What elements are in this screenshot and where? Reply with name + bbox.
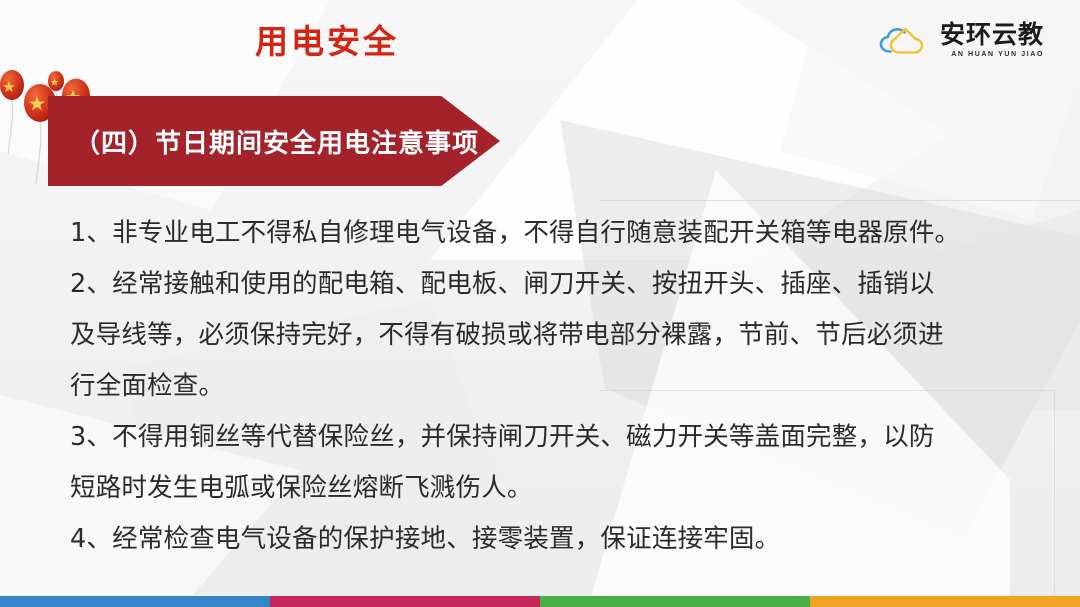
- brand-logo-text: 安环云教 AN HUAN YUN JIAO: [940, 22, 1044, 58]
- content-line: 1、非专业电工不得私自修理电气设备，不得自行随意装配开关箱等电器原件。: [70, 208, 1030, 259]
- content-line: 行全面检查。: [70, 361, 1030, 412]
- bar-segment-green: [540, 596, 810, 607]
- brand-logo: 安环云教 AN HUAN YUN JIAO: [878, 22, 1044, 58]
- slide-root: 用电安全 安环云教 AN HUAN YUN JIAO: [0, 0, 1080, 607]
- background-hairline: [600, 200, 1080, 201]
- brand-name-cn: 安环云教: [940, 22, 1044, 47]
- content-line: 4、经常检查电气设备的保护接地、接零装置，保证连接牢固。: [70, 514, 1030, 565]
- section-banner: （四）节日期间安全用电注意事项: [48, 96, 500, 186]
- bar-segment-orange: [810, 596, 1080, 607]
- content-body: 1、非专业电工不得私自修理电气设备，不得自行随意装配开关箱等电器原件。 2、经常…: [70, 208, 1030, 565]
- brand-name-pinyin: AN HUAN YUN JIAO: [951, 51, 1044, 58]
- bottom-color-bar: [0, 596, 1080, 607]
- bar-segment-crimson: [270, 596, 540, 607]
- section-banner-label: （四）节日期间安全用电注意事项: [48, 123, 479, 160]
- content-line: 及导线等，必须保持完好，不得有破损或将带电部分裸露，节前、节后必须进: [70, 310, 1030, 361]
- page-title: 用电安全: [255, 15, 399, 63]
- content-line: 2、经常接触和使用的配电箱、配电板、闸刀开关、按扭开头、插座、插销以: [70, 259, 1030, 310]
- background-hairline: [1054, 390, 1055, 607]
- slide-header: 用电安全 安环云教 AN HUAN YUN JIAO: [0, 0, 1080, 80]
- content-line: 短路时发生电弧或保险丝熔断飞溅伤人。: [70, 463, 1030, 514]
- double-cloud-icon: [878, 22, 930, 58]
- bar-segment-blue: [0, 596, 270, 607]
- content-line: 3、不得用铜丝等代替保险丝，并保持闸刀开关、磁力开关等盖面完整，以防: [70, 412, 1030, 463]
